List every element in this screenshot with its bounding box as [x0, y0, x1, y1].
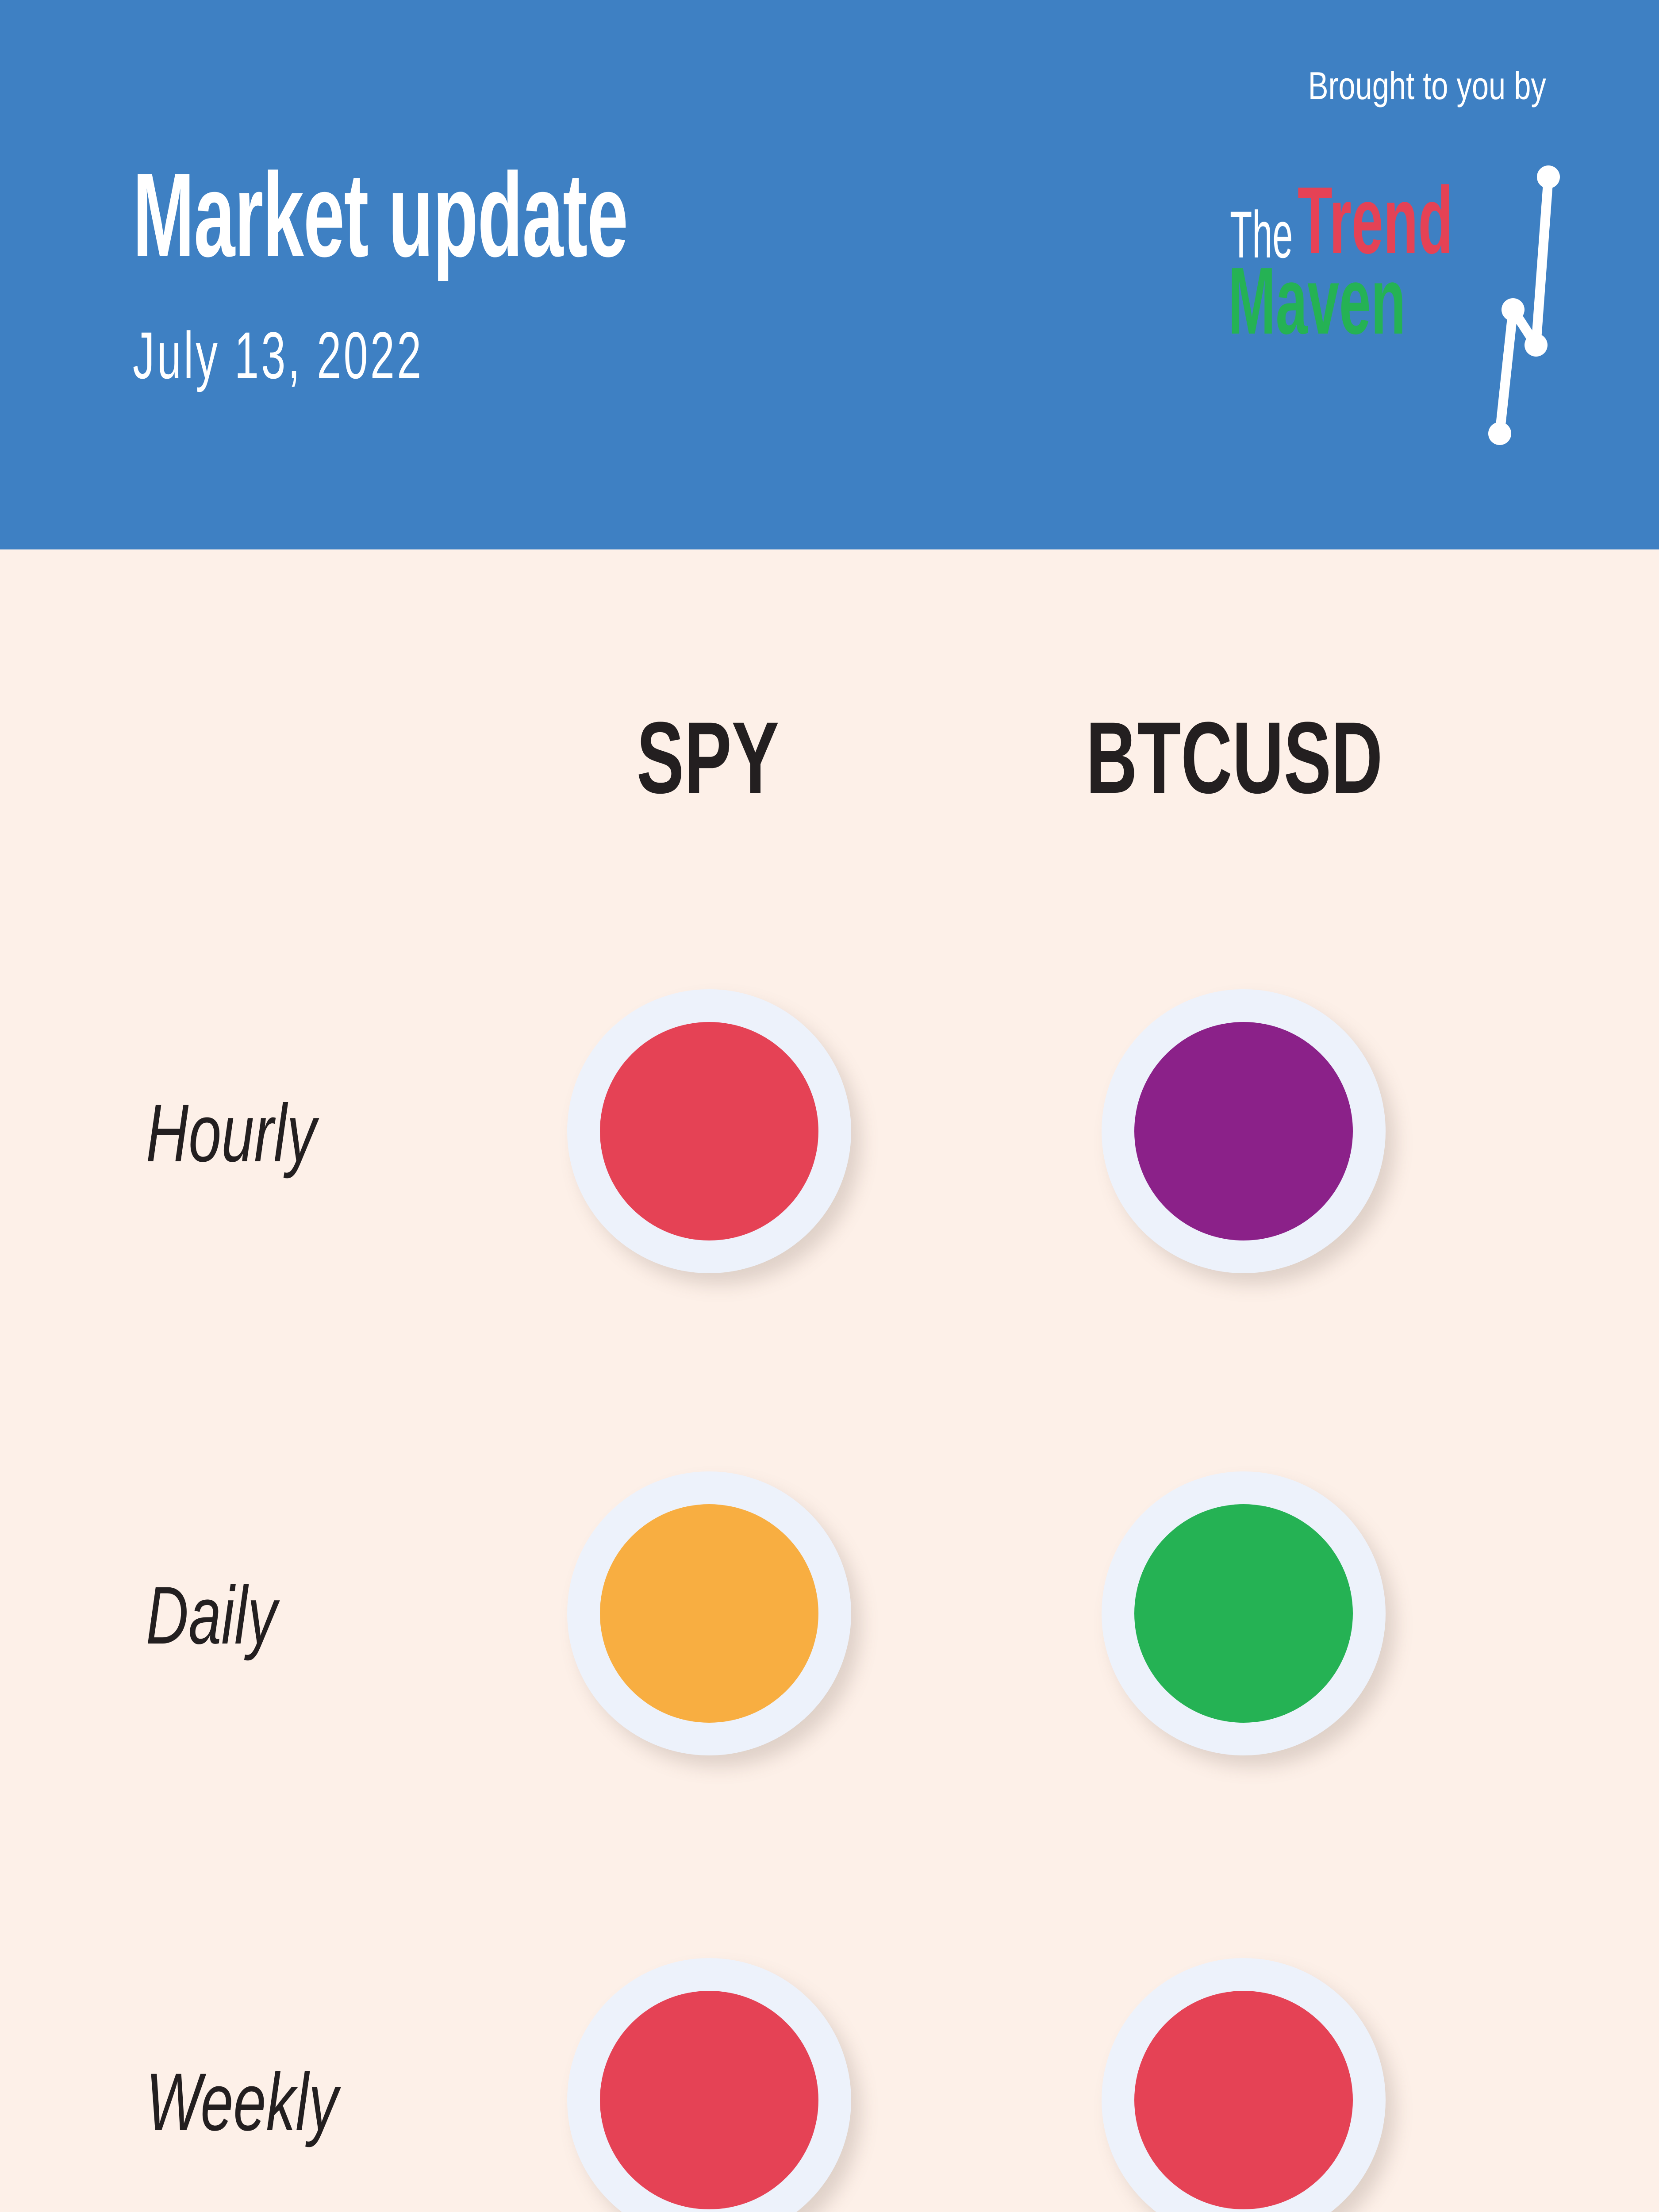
- brand-logo-maven: Maven: [1228, 253, 1406, 348]
- status-indicator-btcusd-daily[interactable]: [1102, 1471, 1386, 1755]
- status-indicator-btcusd-hourly[interactable]: [1102, 989, 1386, 1273]
- brought-to-you-by-label: Brought to you by: [1308, 66, 1546, 105]
- status-indicator-btcusd-weekly[interactable]: [1102, 1958, 1386, 2212]
- status-indicator-spy-hourly[interactable]: [567, 989, 851, 1273]
- column-header-btcusd: BTCUSD: [1079, 707, 1389, 809]
- brand-logo-wordmark: TheTrend Maven: [1208, 150, 1571, 460]
- status-dot-equilibrium: [600, 1504, 818, 1723]
- row-label-weekly: Weekly: [146, 2062, 338, 2143]
- status-indicator-spy-daily[interactable]: [567, 1471, 851, 1755]
- status-dot-down: [600, 1991, 818, 2209]
- row-label-daily: Daily: [146, 1575, 277, 1657]
- row-label-hourly: Hourly: [146, 1093, 316, 1175]
- status-dot-down: [600, 1022, 818, 1240]
- brand-logo: TheTrend Maven: [1208, 150, 1571, 460]
- page-header: Market update July 13, 2022 Brought to y…: [0, 0, 1659, 549]
- report-date: July 13, 2022: [133, 322, 424, 388]
- status-indicator-spy-weekly[interactable]: [567, 1958, 851, 2212]
- page-title: Market update: [133, 156, 628, 275]
- brand-logo-line-two: Maven: [1228, 253, 1524, 348]
- status-dot-megaphone: [1134, 1022, 1353, 1240]
- status-dot-down: [1134, 1991, 1353, 2209]
- column-header-spy: SPY: [553, 707, 863, 809]
- status-dot-up: [1134, 1504, 1353, 1723]
